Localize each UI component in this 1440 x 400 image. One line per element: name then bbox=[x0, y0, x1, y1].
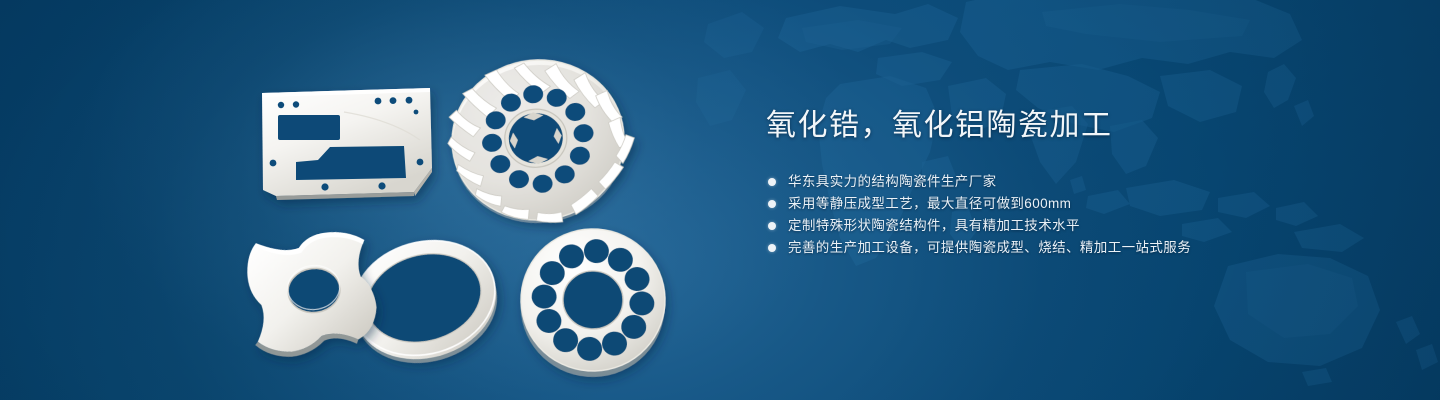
feature-text: 完善的生产加工设备，可提供陶瓷成型、烧结、精加工一站式服务 bbox=[788, 237, 1191, 259]
feature-text: 华东具实力的结构陶瓷件生产厂家 bbox=[788, 171, 997, 193]
bullet-dot-icon bbox=[768, 178, 776, 186]
ceramic-parts-group bbox=[0, 0, 740, 400]
ceramic-perforated-disc bbox=[516, 224, 670, 382]
ceramic-plate bbox=[262, 88, 432, 200]
bullet-dot-icon bbox=[768, 244, 776, 252]
list-item: 定制特殊形状陶瓷结构件，具有精加工技术水平 bbox=[766, 215, 1326, 237]
feature-text: 采用等静压成型工艺，最大直径可做到600mm bbox=[788, 193, 1071, 215]
list-item: 采用等静压成型工艺，最大直径可做到600mm bbox=[766, 193, 1326, 215]
ceramic-cross-part bbox=[243, 228, 382, 361]
feature-text: 定制特殊形状陶瓷结构件，具有精加工技术水平 bbox=[788, 215, 1080, 237]
list-item: 华东具实力的结构陶瓷件生产厂家 bbox=[766, 171, 1326, 193]
promo-banner: 氧化锆，氧化铝陶瓷加工 华东具实力的结构陶瓷件生产厂家 采用等静压成型工艺，最大… bbox=[0, 0, 1440, 400]
banner-copy: 氧化锆，氧化铝陶瓷加工 华东具实力的结构陶瓷件生产厂家 采用等静压成型工艺，最大… bbox=[766, 106, 1326, 259]
ceramic-impeller bbox=[440, 50, 642, 233]
feature-list: 华东具实力的结构陶瓷件生产厂家 采用等静压成型工艺，最大直径可做到600mm 定… bbox=[766, 171, 1326, 259]
bullet-dot-icon bbox=[768, 222, 776, 230]
bullet-dot-icon bbox=[768, 200, 776, 208]
list-item: 完善的生产加工设备，可提供陶瓷成型、烧结、精加工一站式服务 bbox=[766, 237, 1326, 259]
banner-headline: 氧化锆，氧化铝陶瓷加工 bbox=[766, 106, 1326, 146]
